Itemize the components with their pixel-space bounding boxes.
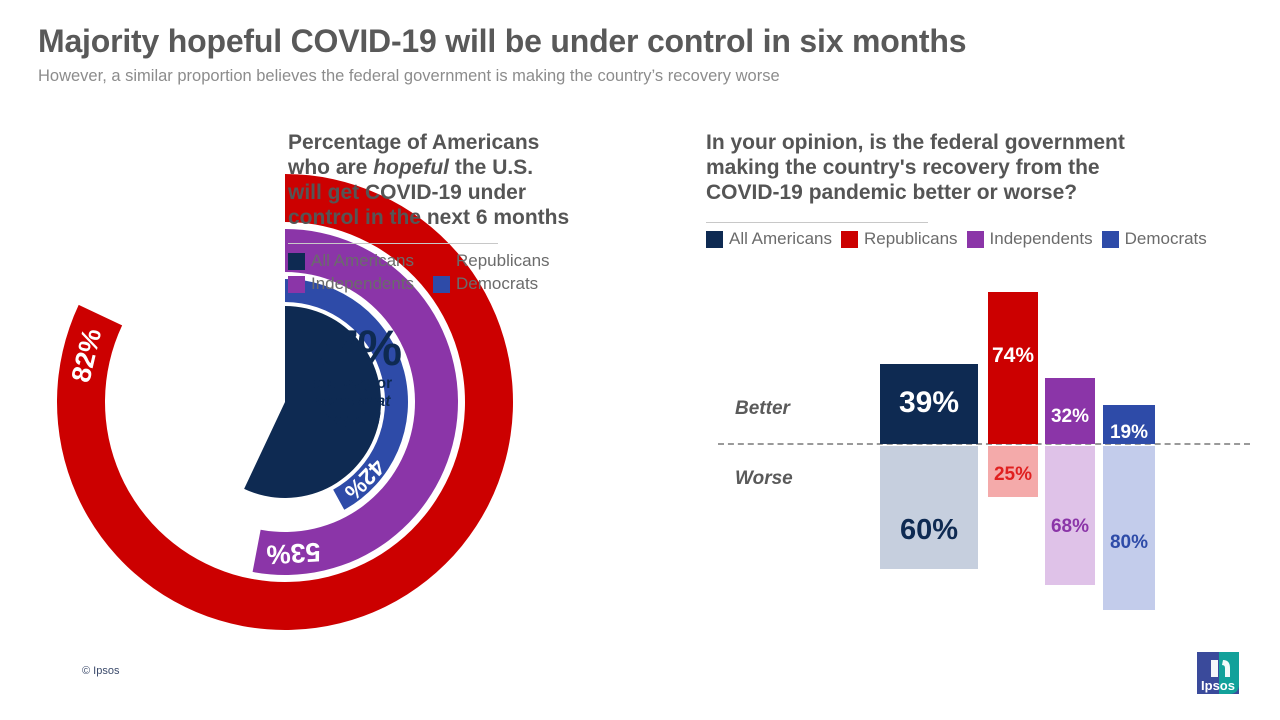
legend-label-republicans: Republicans [864,229,958,249]
legend-item-independents[interactable]: Independents [967,229,1093,249]
legend-row-1: All Americans Republicans [288,251,588,271]
legend-label-all-americans: All Americans [311,251,414,271]
legend-label-republicans: Republicans [456,251,550,271]
legend-row-2: Independents Democrats [288,274,588,294]
hopeful-title-line3: will get COVID-19 under [288,180,658,205]
legend-divider [288,243,498,244]
donut-value-independents: 53% [266,537,322,570]
axis-label-worse: Worse [735,468,793,490]
bar-worse-all-americans[interactable] [880,446,978,569]
hopeful-title-line2: who are hopeful the U.S. [288,155,658,180]
hopeful-chart-title: Percentage of Americans who are hopeful … [288,130,658,230]
legend-swatch-all-americans [288,253,305,270]
legend-item-republicans[interactable]: Republicans [841,229,958,249]
better-worse-chart-legend: All Americans Republicans Independents D… [706,222,1258,249]
hopeful-chart-legend: All Americans Republicans Independents D… [288,243,588,297]
legend-swatch-republicans [841,231,858,248]
better-worse-panel: In your opinion, is the federal governme… [700,0,1280,720]
legend-item-all-americans[interactable]: All Americans [706,229,832,249]
legend-divider [706,222,928,223]
ipsos-logo: Ipsos [1195,650,1245,700]
bar-value-better-all-americans: 39% [880,386,978,420]
bw-title-line1: In your opinion, is the federal governme… [706,130,1266,155]
better-worse-bar-chart: Better Worse 39%60%74%25%32%68%19%80% [700,260,1280,640]
legend-swatch-democrats [433,276,450,293]
bar-value-better-democrats: 19% [1103,422,1155,444]
legend-item-democrats[interactable]: Democrats [1102,229,1207,249]
legend-item-independents[interactable]: Independents [288,274,433,294]
ipsos-logo-text: Ipsos [1201,678,1235,693]
legend-swatch-all-americans [706,231,723,248]
legend-label-democrats: Democrats [1125,229,1207,249]
legend-swatch-independents [967,231,984,248]
legend-item-democrats[interactable]: Democrats [433,274,578,294]
legend-item-all-americans[interactable]: All Americans [288,251,433,271]
hopeful-title-line4: control in the next 6 months [288,205,658,230]
bar-value-worse-independents: 68% [1045,516,1095,538]
legend-label-all-americans: All Americans [729,229,832,249]
bar-value-worse-democrats: 80% [1103,532,1155,554]
hopeful-title-line1: Percentage of Americans [288,130,658,155]
legend-swatch-democrats [1102,231,1119,248]
legend-label-democrats: Democrats [456,274,538,294]
legend-swatch-republicans [433,253,450,270]
zero-baseline [718,443,1250,445]
axis-label-better: Better [735,398,790,420]
bar-value-worse-all-americans: 60% [880,514,978,547]
bar-value-better-republicans: 74% [988,344,1038,368]
bw-title-line3: COVID-19 pandemic better or worse? [706,180,1266,205]
hopeful-donut-panel: 82%53%42% Percentage of Americans who ar… [0,0,660,720]
bar-worse-democrats[interactable] [1103,446,1155,610]
hopeful-rings-chart: 82%53%42% [0,0,660,720]
bw-title-line2: making the country's recovery from the [706,155,1266,180]
bar-value-better-independents: 32% [1045,406,1095,428]
legend-label-independents: Independents [990,229,1093,249]
better-worse-chart-title: In your opinion, is the federal governme… [706,130,1266,205]
bar-value-worse-republicans: 25% [988,464,1038,486]
legend-item-republicans[interactable]: Republicans [433,251,578,271]
legend-swatch-independents [288,276,305,293]
legend-label-independents: Independents [311,274,414,294]
copyright-notice: © Ipsos [82,665,119,677]
legend-row: All Americans Republicans Independents D… [706,229,1258,249]
